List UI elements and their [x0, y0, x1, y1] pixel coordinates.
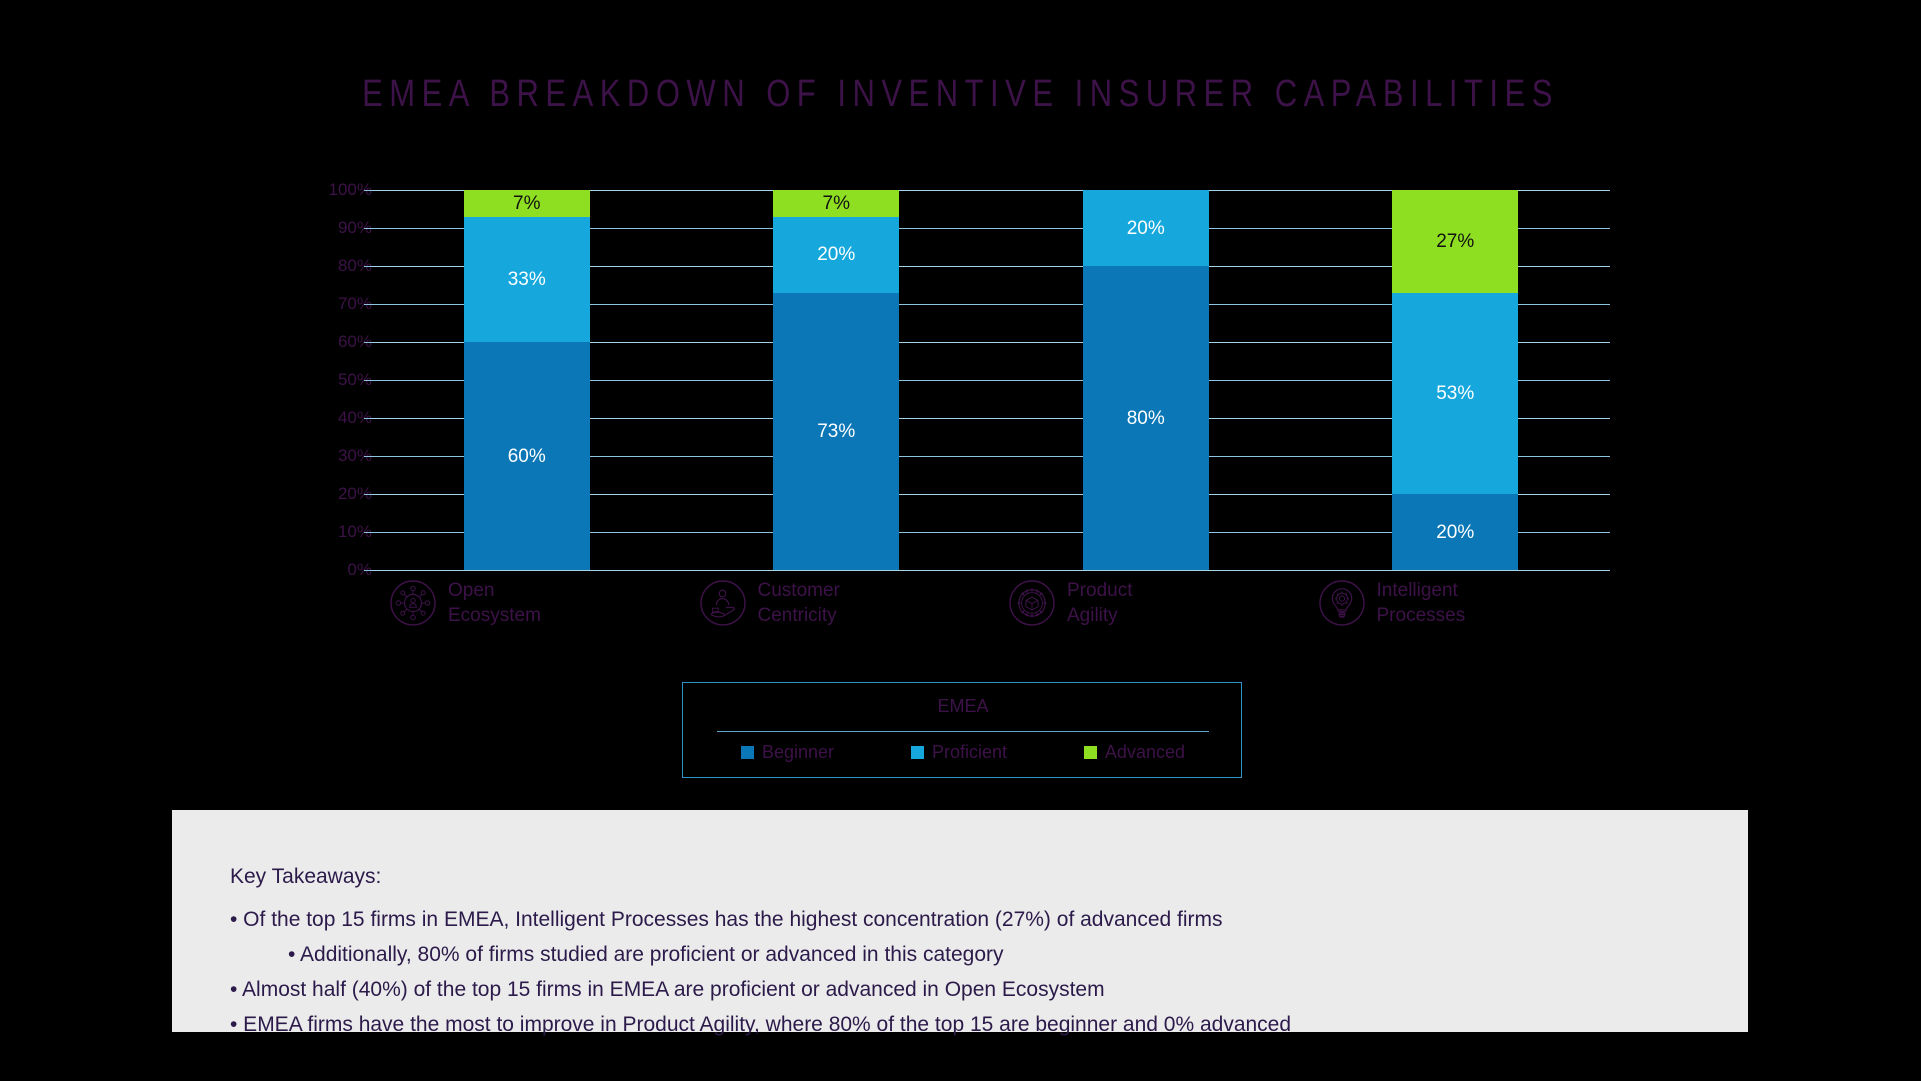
bar-segment-beginner[interactable]: 73% — [773, 293, 899, 570]
legend-color-swatch — [741, 746, 754, 759]
y-axis-tick-label: 60% — [310, 333, 372, 350]
intelligent-processes-lightbulb-gear-icon — [1319, 580, 1365, 626]
bar-segment-value-label: 73% — [817, 422, 855, 441]
category-label-intelligent-processes[interactable]: Intelligent Processes — [1319, 578, 1549, 628]
bar-segment-value-label: 20% — [817, 245, 855, 264]
bar-segment-advanced[interactable]: 7% — [773, 190, 899, 217]
bar-segment-advanced[interactable]: 7% — [464, 190, 590, 217]
takeaway-item: • EMEA firms have the most to improve in… — [230, 1010, 1710, 1040]
legend-item-label: Proficient — [932, 742, 1007, 763]
legend-color-swatch — [1084, 746, 1097, 759]
y-axis-tick-label: 80% — [310, 257, 372, 274]
chart-legend: EMEA BeginnerProficientAdvanced — [682, 682, 1242, 778]
legend-item-beginner[interactable]: Beginner — [741, 742, 834, 763]
x-axis-category-labels: Open EcosystemCustomer CentricityProduct… — [372, 578, 1610, 658]
takeaway-item: • Almost half (40%) of the top 15 firms … — [230, 975, 1710, 1005]
key-takeaways-panel: Key Takeaways: • Of the top 15 firms in … — [172, 810, 1748, 1032]
open-ecosystem-network-icon — [390, 580, 436, 626]
gridline — [372, 570, 1610, 571]
bar-segment-beginner[interactable]: 20% — [1392, 494, 1518, 570]
bar-segment-proficient[interactable]: 33% — [464, 217, 590, 342]
bar-segment-value-label: 7% — [513, 194, 540, 213]
y-axis-tick-label: 100% — [310, 181, 372, 198]
bar-column[interactable]: 60%33%7% — [464, 190, 590, 570]
legend-items: BeginnerProficientAdvanced — [717, 742, 1209, 763]
key-takeaways-content: Key Takeaways: • Of the top 15 firms in … — [230, 862, 1710, 1045]
y-axis-tick-label: 50% — [310, 371, 372, 388]
legend-item-advanced[interactable]: Advanced — [1084, 742, 1185, 763]
y-axis-tick-label: 20% — [310, 485, 372, 502]
takeaway-item: • Additionally, 80% of firms studied are… — [230, 940, 1710, 970]
legend-item-label: Advanced — [1105, 742, 1185, 763]
category-label-product-agility[interactable]: Product Agility — [1009, 578, 1239, 628]
bar-segment-proficient[interactable]: 53% — [1392, 293, 1518, 494]
bar-segment-proficient[interactable]: 20% — [1083, 190, 1209, 266]
category-label-text: Product Agility — [1067, 578, 1132, 628]
y-axis-tick-label: 70% — [310, 295, 372, 312]
category-label-text: Open Ecosystem — [448, 578, 541, 628]
product-agility-gear-cube-icon — [1009, 580, 1055, 626]
bar-segment-proficient[interactable]: 20% — [773, 217, 899, 293]
category-label-text: Customer Centricity — [758, 578, 840, 628]
legend-item-proficient[interactable]: Proficient — [911, 742, 1007, 763]
bar-segment-value-label: 80% — [1127, 409, 1165, 428]
legend-divider — [717, 731, 1209, 732]
category-label-text: Intelligent Processes — [1377, 578, 1466, 628]
y-axis-tick-label: 0% — [310, 561, 372, 578]
bar-segment-beginner[interactable]: 60% — [464, 342, 590, 570]
bar-column[interactable]: 80%20% — [1083, 190, 1209, 570]
y-axis-tick-label: 90% — [310, 219, 372, 236]
y-axis-tick-label: 10% — [310, 523, 372, 540]
bar-column[interactable]: 20%53%27% — [1392, 190, 1518, 570]
bar-segment-advanced[interactable]: 27% — [1392, 190, 1518, 293]
key-takeaways-heading: Key Takeaways: — [230, 862, 1710, 892]
bar-segment-value-label: 53% — [1436, 384, 1474, 403]
takeaway-item: • Of the top 15 firms in EMEA, Intellige… — [230, 905, 1710, 935]
bar-segment-value-label: 60% — [508, 447, 546, 466]
bar-segment-value-label: 33% — [508, 270, 546, 289]
bar-column[interactable]: 73%20%7% — [773, 190, 899, 570]
chart-plot-area: 100%90%80%70%60%50%40%30%20%10%0% 60%33%… — [310, 190, 1610, 570]
bar-segment-value-label: 20% — [1127, 219, 1165, 238]
customer-centricity-hand-person-icon — [700, 580, 746, 626]
stacked-bars-layer: 60%33%7%73%20%7%80%20%20%53%27% — [372, 190, 1610, 570]
category-label-open-ecosystem[interactable]: Open Ecosystem — [390, 578, 620, 628]
y-axis-tick-label: 40% — [310, 409, 372, 426]
legend-item-label: Beginner — [762, 742, 834, 763]
page-title: EMEA BREAKDOWN OF INVENTIVE INSURER CAPA… — [0, 72, 1921, 116]
bar-segment-value-label: 7% — [823, 194, 850, 213]
bar-segment-value-label: 27% — [1436, 232, 1474, 251]
bar-segment-beginner[interactable]: 80% — [1083, 266, 1209, 570]
y-axis-tick-labels: 100%90%80%70%60%50%40%30%20%10%0% — [310, 190, 372, 570]
y-axis-tick-label: 30% — [310, 447, 372, 464]
bar-segment-value-label: 20% — [1436, 523, 1474, 542]
category-label-customer-centricity[interactable]: Customer Centricity — [700, 578, 930, 628]
legend-title: EMEA — [683, 696, 1243, 717]
legend-color-swatch — [911, 746, 924, 759]
